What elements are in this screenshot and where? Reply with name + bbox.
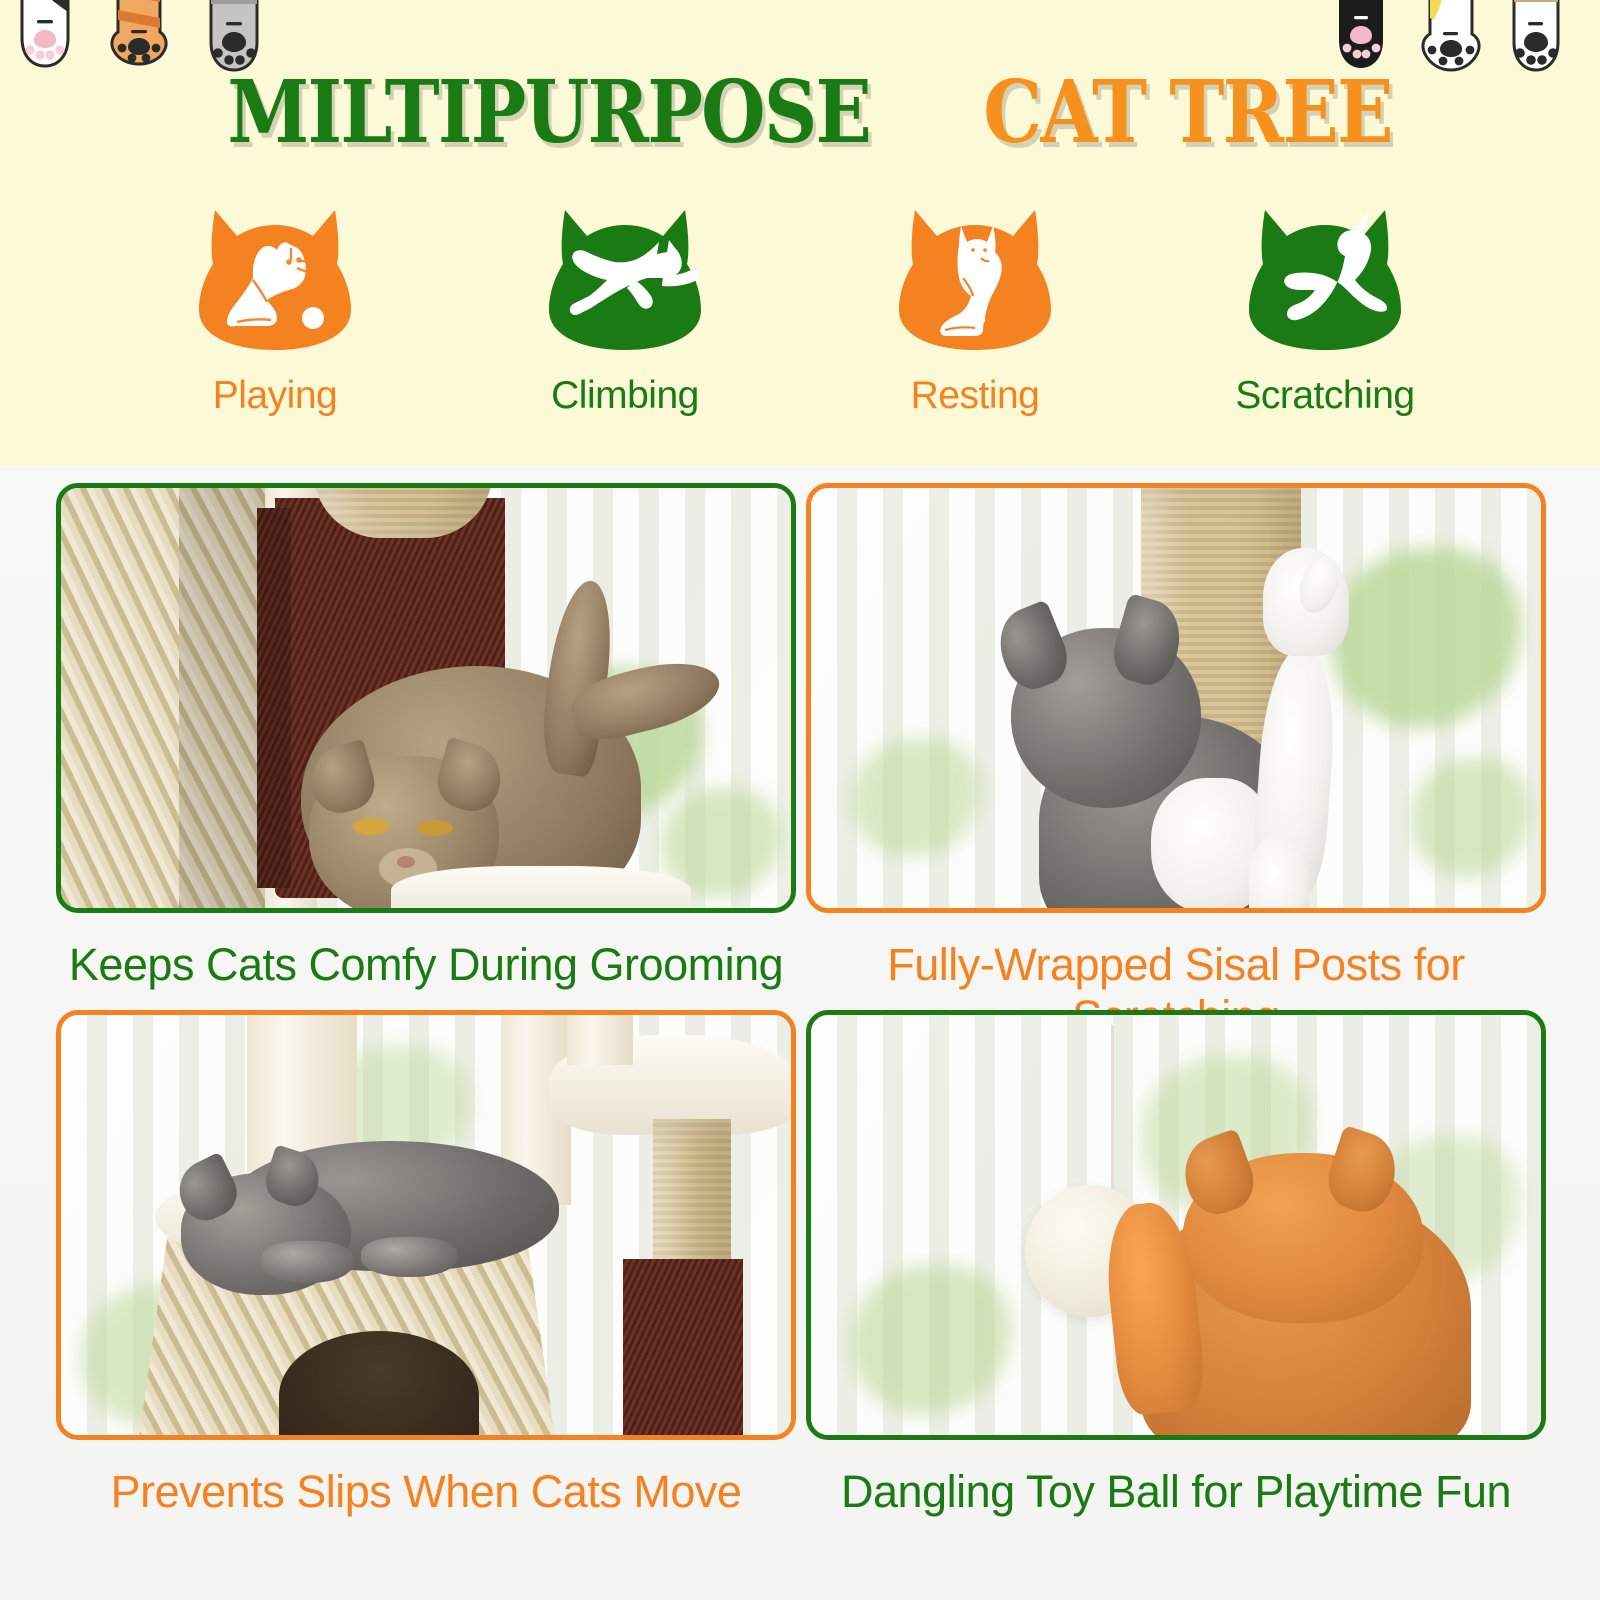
gallery-item-4: Dangling Toy Ball for Playtime Fun	[806, 1010, 1546, 1518]
feature-icon-row: Playing Climbing	[150, 196, 1450, 418]
feature-climbing: Climbing	[500, 196, 750, 418]
feature-label-playing: Playing	[213, 374, 337, 418]
gallery-item-2: Fully-Wrapped Sisal Posts for Scratching	[806, 483, 1546, 1043]
title-part-multipurpose: MILTIPURPOSE	[227, 62, 870, 163]
infographic-page: MILTIPURPOSE CAT TREE	[0, 0, 1600, 1600]
photo-grooming-brush-tabby-cat	[56, 483, 796, 913]
cat-climbing-icon	[535, 196, 715, 356]
gallery-item-3: Prevents Slips When Cats Move	[56, 1010, 796, 1518]
caption-3: Prevents Slips When Cats Move	[56, 1466, 796, 1518]
feature-playing: Playing	[150, 196, 400, 418]
header-banner: MILTIPURPOSE CAT TREE	[0, 0, 1600, 465]
paw-white-pink-icon	[14, 0, 76, 70]
caption-1: Keeps Cats Comfy During Grooming	[56, 939, 796, 991]
title-space	[924, 62, 948, 163]
paw-decoration-strip	[0, 0, 1600, 70]
caption-4: Dangling Toy Ball for Playtime Fun	[806, 1466, 1546, 1518]
photo-gray-cat-resting-on-woven-condo	[56, 1010, 796, 1440]
photo-orange-cat-with-dangling-toy-ball	[806, 1010, 1546, 1440]
cat-scratching-icon	[1235, 196, 1415, 356]
feature-label-climbing: Climbing	[551, 374, 699, 418]
feature-label-scratching: Scratching	[1235, 374, 1414, 418]
feature-scratching: Scratching	[1200, 196, 1450, 418]
gallery-item-1: Keeps Cats Comfy During Grooming	[56, 483, 796, 991]
feature-label-resting: Resting	[911, 374, 1040, 418]
photo-gallery: Keeps Cats Comfy During Grooming	[0, 465, 1600, 1600]
cat-resting-icon	[885, 196, 1065, 356]
page-title: MILTIPURPOSE CAT TREE	[0, 62, 1600, 163]
feature-resting: Resting	[850, 196, 1100, 418]
cat-playing-icon	[185, 196, 365, 356]
title-part-cat-tree: CAT TREE	[983, 62, 1391, 163]
photo-gray-cat-scratching-sisal-post	[806, 483, 1546, 913]
